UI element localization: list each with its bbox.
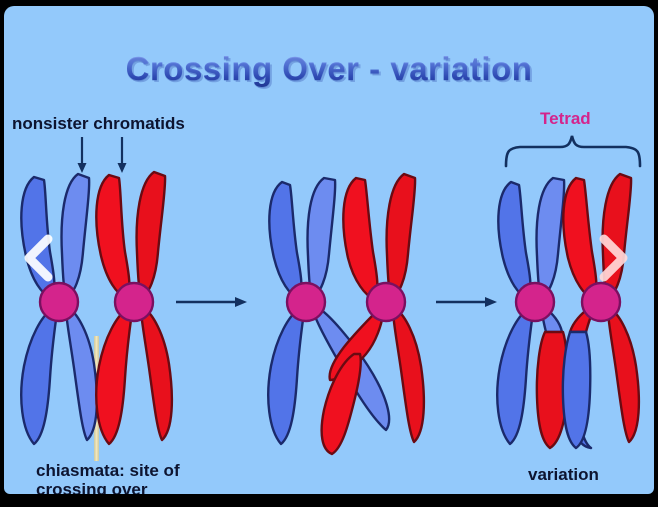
tetrad-brace-icon	[506, 136, 640, 166]
nonsister-pointer-arrows	[78, 137, 127, 173]
panel-1-chromosomes	[21, 172, 172, 444]
blue-homolog-p3	[497, 178, 567, 448]
blue-homolog-p1	[21, 174, 97, 444]
panel-2-chromosomes	[268, 174, 424, 454]
panel-3-chromosomes	[497, 174, 639, 448]
slide-canvas: Crossing Over - variation Crossing Over …	[4, 6, 654, 494]
label-variation: variation	[528, 465, 599, 485]
centromere-red-p2	[367, 283, 405, 321]
label-nonsister-chromatids: nonsister chromatids	[12, 114, 185, 134]
centromere-blue-p2	[287, 283, 325, 321]
red-homolog-p3	[563, 174, 639, 448]
red-homolog-p1	[96, 172, 172, 444]
crossing-over-diagram: .bl { fill:#5274e8; stroke:#1b2a6b; stro…	[4, 6, 654, 494]
chevron-right-icon[interactable]	[596, 234, 630, 282]
slide-frame: Crossing Over - variation Crossing Over …	[0, 0, 658, 507]
centromere-blue-p1	[40, 283, 78, 321]
stage-arrow-1	[176, 297, 247, 307]
stage-arrow-2	[436, 297, 497, 307]
chevron-left-icon[interactable]	[22, 234, 56, 282]
label-chiasmata: chiasmata: site of crossing over	[36, 461, 246, 494]
centromere-red-p1	[115, 283, 153, 321]
centromere-blue-p3	[516, 283, 554, 321]
label-tetrad: Tetrad	[540, 109, 591, 129]
centromere-red-p3	[582, 283, 620, 321]
